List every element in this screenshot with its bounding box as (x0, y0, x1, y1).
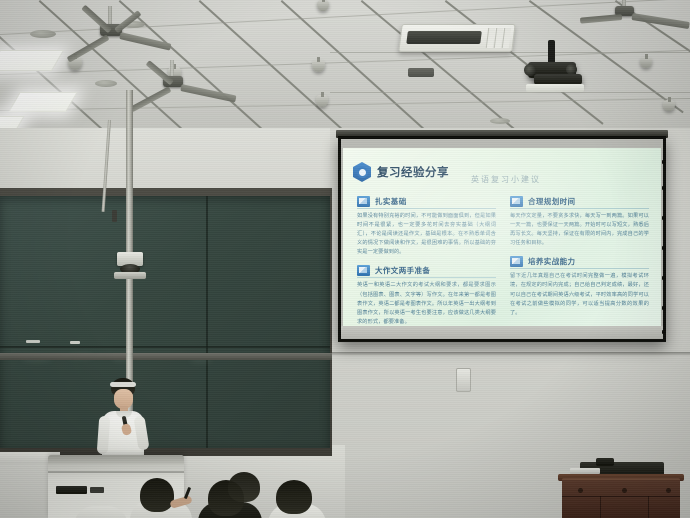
air-vent (490, 118, 510, 124)
classroom-photo: 复习经验分享 英语复习小建议 扎实基础 如果没有特别充裕的时间，不可能做到面面俱… (0, 0, 690, 518)
ceiling-projector (512, 40, 596, 92)
slide-section-body: 每天作文定量，不要贪多求快，每天写一到两篇。如果可以一天一篇，也要保证一天两篇。… (510, 212, 649, 248)
lectern-edge (48, 471, 184, 473)
chalk-tray (0, 353, 332, 360)
audience-head (276, 480, 312, 514)
blackboard (0, 196, 330, 448)
slide-section: 培养实战能力 留下近几年真题自己在考试时间完整做一遍，模拟考试环境，在规定的时间… (510, 256, 649, 317)
cabinet-device (596, 458, 614, 466)
air-conditioner (398, 24, 515, 52)
pen-icon (357, 265, 370, 276)
headband (110, 382, 136, 387)
slide-column-left: 扎实基础 如果没有特别充裕的时间，不可能做到面面俱到，但是如果时间不是很紧，也一… (357, 196, 496, 326)
ceiling-fan (58, 6, 188, 66)
slide-title-row: 复习经验分享 (353, 162, 449, 182)
slide-section-title: 合理规划时间 (528, 196, 575, 207)
wall-grill (408, 68, 434, 77)
slide-section-body: 留下近几年真题自己在考试时间完整做一遍，模拟考试环境，在规定的时间内完成；自己给… (510, 272, 649, 317)
audience-head (228, 472, 260, 502)
slide-section-body: 如果没有特别充裕的时间，不可能做到面面俱到，但是如果时间不是很紧，也一定要多花时… (357, 212, 496, 257)
lectern-control-panel-secondary[interactable] (90, 487, 104, 493)
audience-head (140, 478, 174, 512)
fluorescent-panel-light (8, 92, 78, 112)
slide-section: 合理规划时间 每天作文定量，不要贪多求快，每天写一到两篇。如果可以一天一篇，也要… (510, 196, 649, 248)
slide-title: 复习经验分享 (377, 164, 449, 180)
projection-screen[interactable]: 复习经验分享 英语复习小建议 扎实基础 如果没有特别充裕的时间，不可能做到面面俱… (336, 130, 668, 348)
slide-section-title: 扎实基础 (375, 196, 407, 207)
lectern-top (48, 455, 184, 464)
slide-section-title: 培养实战能力 (528, 256, 575, 267)
ceiling-speaker (317, 0, 329, 11)
slide-section-header: 大作文两手准备 (357, 265, 496, 278)
lectern-control-panel[interactable] (56, 486, 87, 494)
slide-content: 复习经验分享 英语复习小建议 扎实基础 如果没有特别充裕的时间，不可能做到面面俱… (343, 148, 661, 326)
projected-slide: 复习经验分享 英语复习小建议 扎实基础 如果没有特别充裕的时间，不可能做到面面俱… (343, 148, 661, 326)
document-icon (357, 196, 370, 207)
slide-section-header: 合理规划时间 (510, 196, 649, 209)
camera-base-plate (114, 272, 146, 279)
slide-section-body: 英语一和英语二大作文的考试大纲和要求，都是要求图示（包括图表、图表、文字等）写作… (357, 281, 496, 326)
wire-clamp (112, 210, 117, 222)
wooden-cabinet (562, 478, 680, 518)
slide-section-header: 培养实战能力 (510, 256, 649, 269)
fluorescent-panel-light (0, 50, 64, 71)
ceiling (0, 0, 690, 138)
slide-column-right: 合理规划时间 每天作文定量，不要贪多求快，每天写一到两篇。如果可以一天一篇，也要… (510, 196, 649, 326)
hexagon-gear-icon (353, 162, 371, 182)
slide-section: 扎实基础 如果没有特别充裕的时间，不可能做到面面俱到，但是如果时间不是很紧，也一… (357, 196, 496, 257)
slide-section-header: 扎实基础 (357, 196, 496, 209)
slide-columns: 扎实基础 如果没有特别充裕的时间，不可能做到面面俱到，但是如果时间不是很紧，也一… (357, 196, 649, 326)
air-vent (95, 80, 117, 87)
air-vent (30, 30, 56, 38)
ceiling-speaker (640, 57, 652, 68)
slide-section: 大作文两手准备 英语一和英语二大作文的考试大纲和要求，都是要求图示（包括图表、图… (357, 265, 496, 326)
wall-shadow (330, 352, 690, 356)
wall-outlet-box (456, 368, 471, 392)
slide-subtitle: 英语复习小建议 (471, 174, 541, 185)
chart-icon (510, 256, 523, 267)
slide-section-title: 大作文两手准备 (375, 265, 430, 276)
ceiling-speaker (312, 60, 325, 72)
ceiling-fan (136, 60, 266, 115)
calendar-icon (510, 196, 523, 207)
screen-lower-surface (341, 326, 663, 339)
ceiling-speaker (663, 100, 675, 111)
ceiling-fan (586, 0, 690, 40)
